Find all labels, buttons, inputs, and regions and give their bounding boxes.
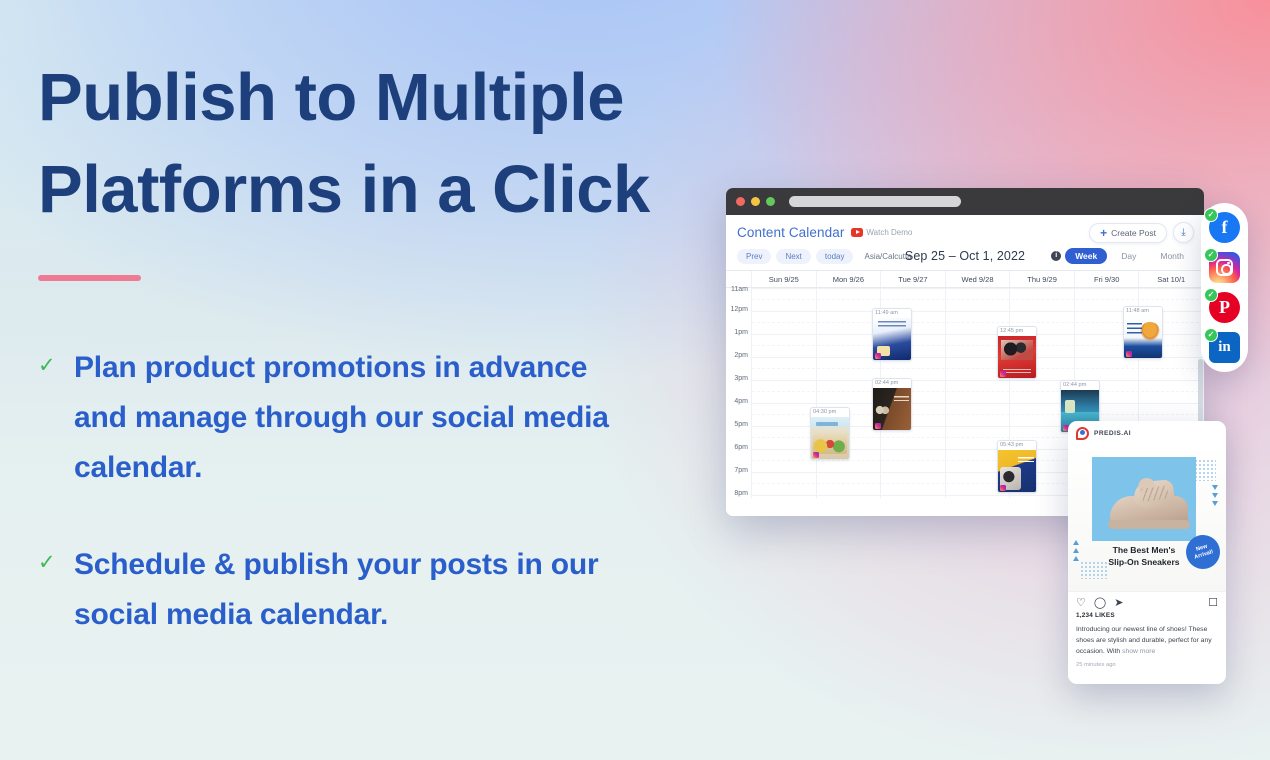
verified-check-icon: ✓ — [1204, 288, 1218, 302]
time-label-5pm: 5pm — [734, 421, 748, 428]
watch-demo-label: Watch Demo — [866, 228, 912, 237]
calendar-event[interactable]: 12:45 pm — [997, 326, 1037, 379]
bullet-text: Plan product promotions in advance and m… — [74, 343, 634, 492]
time-label-4pm: 4pm — [734, 398, 748, 405]
time-axis: 11am 12pm 1pm 2pm 3pm 4pm 5pm 6pm 7pm 8p… — [726, 288, 752, 498]
social-item-facebook[interactable]: f ✓ — [1209, 212, 1240, 243]
view-week-button[interactable]: Week — [1065, 248, 1107, 264]
time-label-7pm: 7pm — [734, 467, 748, 474]
brand-name: PREDIS.AI — [1094, 430, 1131, 437]
minimize-traffic-light[interactable] — [751, 197, 760, 206]
calendar-toolbar: Prev Next today Asia/Calcutta Sep 25 – O… — [726, 247, 1204, 270]
app-header-actions: + Create Post ⤓ — [1089, 222, 1194, 243]
app-title: Content Calendar — [737, 225, 844, 240]
list-item: ✓ Plan product promotions in advance and… — [38, 343, 758, 492]
verified-check-icon: ✓ — [1204, 208, 1218, 222]
bullet-text: Schedule & publish your posts in our soc… — [74, 540, 634, 640]
share-icon[interactable]: ➤ — [1114, 598, 1123, 609]
post-header: PREDIS.AI — [1068, 421, 1226, 445]
instagram-badge-icon — [1126, 351, 1132, 357]
event-time: 11:49 am — [873, 309, 911, 318]
post-media: New Arrival! The Best Men's Slip-On Snea… — [1068, 445, 1226, 591]
product-photo-backdrop — [1092, 457, 1196, 541]
create-post-button[interactable]: + Create Post — [1089, 223, 1167, 243]
sneaker-illustration — [1104, 481, 1192, 533]
instagram-badge-icon — [1000, 371, 1006, 377]
event-time: 04:30 pm — [811, 408, 849, 417]
day-header-mon[interactable]: Mon 9/26 — [817, 271, 882, 287]
triangle-decoration — [1073, 540, 1079, 561]
page-content: Publish to Multiple Platforms in a Click… — [0, 0, 1270, 760]
time-label-8pm: 8pm — [734, 490, 748, 497]
day-header-thu[interactable]: Thu 9/29 — [1010, 271, 1075, 287]
time-label-3pm: 3pm — [734, 375, 748, 382]
post-headline-line-1: The Best Men's — [1092, 545, 1196, 557]
day-column-sun[interactable] — [752, 288, 817, 498]
view-month-button[interactable]: Month — [1150, 248, 1194, 264]
social-item-instagram[interactable]: ✓ — [1209, 252, 1240, 283]
create-post-label: Create Post — [1111, 228, 1156, 238]
event-time: 02:44 pm — [1061, 381, 1099, 390]
event-time: 12:45 pm — [998, 327, 1036, 336]
prev-button[interactable]: Prev — [737, 249, 771, 264]
comment-icon[interactable]: ◯ — [1094, 598, 1106, 609]
calendar-event[interactable]: 05:43 pm — [997, 440, 1037, 493]
instagram-badge-icon — [1000, 485, 1006, 491]
check-icon: ✓ — [38, 552, 58, 640]
day-header-wed[interactable]: Wed 9/28 — [946, 271, 1011, 287]
time-label-1pm: 1pm — [734, 329, 748, 336]
time-label-12pm: 12pm — [730, 306, 748, 313]
predis-logo-icon — [1076, 427, 1089, 440]
post-caption: Introducing our newest line of shoes! Th… — [1068, 619, 1226, 657]
download-icon: ⤓ — [1181, 228, 1185, 238]
time-label-6pm: 6pm — [734, 444, 748, 451]
instagram-badge-icon — [813, 452, 819, 458]
feature-bullet-list: ✓ Plan product promotions in advance and… — [38, 343, 758, 640]
browser-title-bar — [726, 188, 1204, 215]
bookmark-icon[interactable]: ☐ — [1208, 598, 1218, 609]
social-item-pinterest[interactable]: P ✓ — [1209, 292, 1240, 323]
check-icon: ✓ — [38, 355, 58, 492]
app-header: Content Calendar Watch Demo + Create Pos… — [726, 215, 1204, 247]
youtube-icon — [851, 228, 863, 237]
time-label-11am: 11am — [731, 286, 748, 293]
show-more-link[interactable]: show more — [1122, 648, 1155, 655]
hero-section: Publish to Multiple Platforms in a Click… — [38, 52, 758, 688]
close-traffic-light[interactable] — [736, 197, 745, 206]
next-button[interactable]: Next — [776, 249, 810, 264]
info-icon[interactable]: i — [1051, 251, 1061, 261]
calendar-event[interactable]: 02:44 pm — [872, 378, 912, 431]
day-header-sat[interactable]: Sat 10/1 — [1139, 271, 1204, 287]
calendar-event[interactable]: 04:30 pm — [810, 407, 850, 460]
social-platform-rail: f ✓ ✓ P ✓ in ✓ — [1201, 203, 1248, 372]
event-time: 05:43 pm — [998, 441, 1036, 450]
calendar-day-headers: Sun 9/25 Mon 9/26 Tue 9/27 Wed 9/28 Thu … — [726, 271, 1204, 288]
watch-demo-button[interactable]: Watch Demo — [851, 228, 912, 237]
post-headline-line-2: Slip-On Sneakers — [1092, 557, 1196, 569]
verified-check-icon: ✓ — [1204, 328, 1218, 342]
social-item-linkedin[interactable]: in ✓ — [1209, 332, 1240, 363]
like-icon[interactable]: ♡ — [1076, 598, 1086, 609]
event-time: 11:48 am — [1124, 307, 1162, 316]
day-header-tue[interactable]: Tue 9/27 — [881, 271, 946, 287]
view-day-button[interactable]: Day — [1111, 248, 1146, 264]
address-bar[interactable] — [789, 196, 961, 207]
verified-check-icon: ✓ — [1204, 248, 1218, 262]
chevron-decoration — [1212, 485, 1218, 506]
calendar-event[interactable]: 11:49 am — [872, 308, 912, 361]
like-count: 1,234 LIKES — [1068, 611, 1226, 619]
time-label-2pm: 2pm — [734, 352, 748, 359]
timezone-label: Asia/Calcutta — [864, 252, 911, 261]
plus-icon: + — [1100, 227, 1107, 239]
calendar-event[interactable]: 11:48 am — [1123, 306, 1163, 359]
instagram-badge-icon — [875, 353, 881, 359]
post-action-bar: ♡ ◯ ➤ ☐ — [1068, 591, 1226, 611]
post-headline: The Best Men's Slip-On Sneakers — [1092, 545, 1196, 569]
event-time: 02:44 pm — [873, 379, 911, 388]
page-title: Publish to Multiple Platforms in a Click — [38, 52, 758, 237]
day-header-sun[interactable]: Sun 9/25 — [752, 271, 817, 287]
post-timestamp: 25 minutes ago — [1068, 657, 1226, 668]
title-divider — [38, 275, 141, 281]
today-button[interactable]: today — [816, 249, 854, 264]
instagram-camera-glyph — [1216, 259, 1233, 276]
download-button[interactable]: ⤓ — [1173, 222, 1194, 243]
instagram-post-preview: PREDIS.AI New Arr — [1068, 421, 1226, 684]
day-header-fri[interactable]: Fri 9/30 — [1075, 271, 1140, 287]
maximize-traffic-light[interactable] — [766, 197, 775, 206]
list-item: ✓ Schedule & publish your posts in our s… — [38, 540, 758, 640]
time-gutter-header — [726, 271, 752, 287]
instagram-badge-icon — [875, 423, 881, 429]
view-switcher: i Week Day Month — [1051, 248, 1194, 264]
